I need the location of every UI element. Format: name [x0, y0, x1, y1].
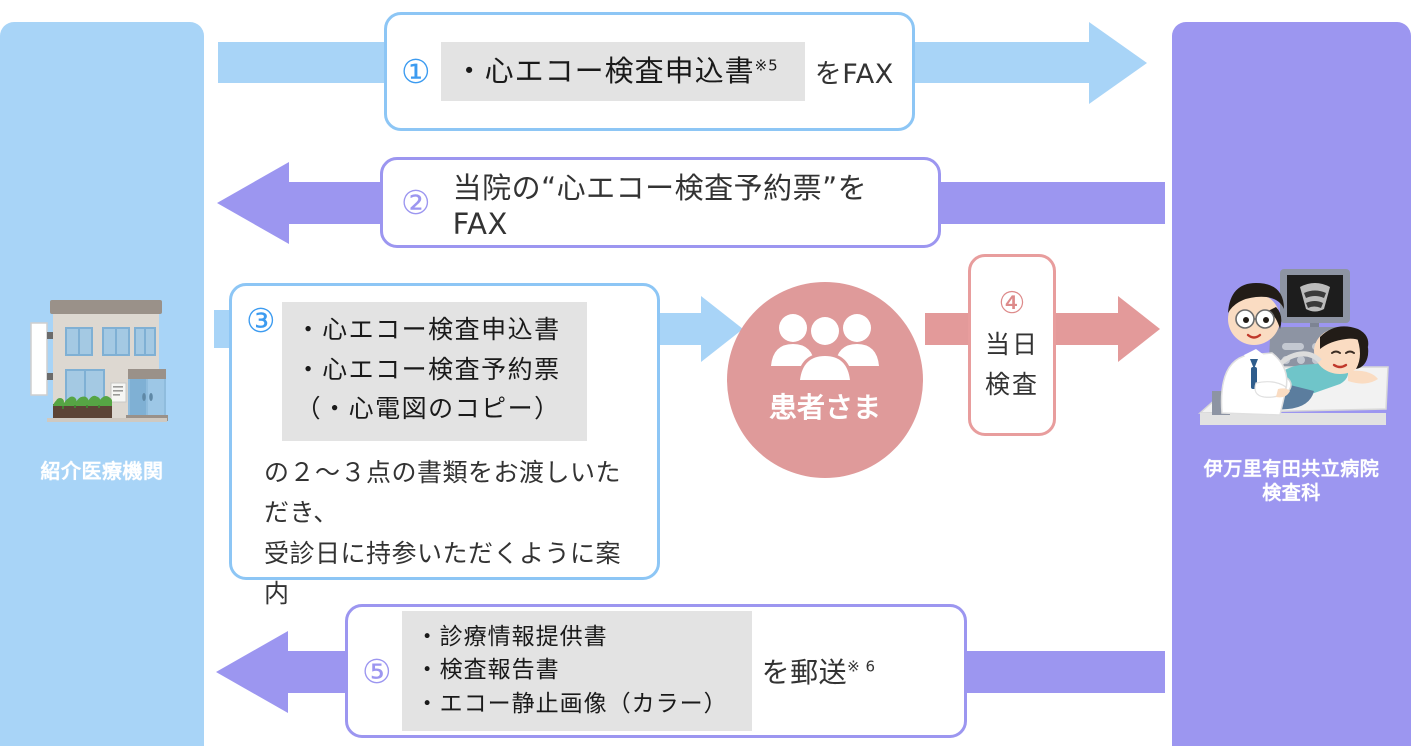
echocardiography-exam-icon: [1188, 263, 1396, 445]
clinic-building-icon: [22, 283, 182, 447]
step-1-number: ①: [401, 55, 431, 88]
step-2-text: 当院の“心エコー検査予約票”をFAX: [453, 165, 918, 241]
arrow-step5-head: [216, 631, 288, 713]
step-5-document-list: ・診療情報提供書 ・検査報告書 ・エコー静止画像（カラー）: [402, 611, 752, 730]
arrow-step4-shaft-left: [925, 313, 973, 345]
step-1-document-line-1: ・心エコー検査申込書: [455, 54, 755, 88]
step-5-document-line-3: ・エコー静止画像（カラー）: [416, 688, 728, 721]
step-2-number: ②: [401, 186, 431, 219]
patient-label: 患者さま: [769, 386, 881, 426]
arrow-step2-shaft-right: [940, 182, 1165, 224]
step-5-action-label: を郵送: [762, 656, 848, 689]
diagram-canvas: 紹介医療機関: [0, 0, 1411, 746]
step-3-note-line-2: 受診日に持参いただくように案内: [264, 534, 643, 615]
referring-clinic-panel: 紹介医療機関: [0, 22, 204, 746]
arrow-step5-shaft-right: [963, 651, 1165, 693]
arrow-step4-head: [1118, 296, 1160, 362]
step-2-box: ② 当院の“心エコー検査予約票”をFAX: [380, 157, 941, 248]
step-4-line-1: 当日: [985, 325, 1039, 361]
referring-clinic-label: 紹介医療機関: [41, 459, 164, 485]
step-4-box: ④ 当日 検査: [968, 254, 1056, 436]
step-3-document-line-1: ・心エコー検査申込書: [296, 310, 561, 350]
arrow-step4-shaft-right: [1052, 313, 1118, 345]
step-1-document-list: ・心エコー検査申込書※5: [441, 42, 805, 101]
step-1-box: ① ・心エコー検査申込書※5 をFAX: [384, 12, 915, 131]
step-3-note-line-1: の２〜３点の書類をお渡しいただき、: [264, 453, 643, 534]
patient-node: 患者さま: [727, 282, 923, 478]
arrow-step2-shaft-left: [289, 182, 385, 224]
step-3-note: の２〜３点の書類をお渡しいただき、 受診日に持参いただくように案内: [246, 453, 643, 615]
step-3-number: ③: [246, 304, 276, 337]
arrow-step1-shaft-right: [905, 42, 1089, 83]
arrow-step1-head: [1089, 22, 1147, 104]
step-5-document-line-2: ・検査報告書: [416, 654, 728, 687]
step-3-document-line-2: ・心エコー検査予約票: [296, 350, 561, 390]
hospital-panel: 伊万里有田共立病院 検査科: [1172, 22, 1411, 746]
step-5-document-line-1: ・診療情報提供書: [416, 621, 728, 654]
step-4-number: ④: [999, 289, 1026, 319]
step-5-footnote: ※ 6: [847, 658, 875, 676]
step-5-box: ⑤ ・診療情報提供書 ・検査報告書 ・エコー静止画像（カラー） を郵送※ 6: [345, 604, 967, 738]
arrow-step3-shaft: [657, 313, 701, 345]
arrow-step2-head: [217, 162, 289, 244]
step-4-line-2: 検査: [985, 365, 1039, 401]
step-3-document-list: ・心エコー検査申込書 ・心エコー検査予約票 （・心電図のコピー）: [282, 302, 587, 441]
step-5-action: を郵送※ 6: [762, 651, 876, 691]
step-5-number: ⑤: [362, 655, 392, 688]
hospital-label-line1: 伊万里有田共立病院: [1204, 457, 1380, 481]
people-group-icon: [769, 308, 881, 382]
step-3-document-line-3: （・心電図のコピー）: [296, 389, 561, 429]
hospital-label: 伊万里有田共立病院 検査科: [1204, 457, 1380, 506]
hospital-label-line2: 検査科: [1204, 481, 1380, 505]
step-1-footnote: ※5: [755, 56, 779, 74]
step-1-action: をFAX: [815, 52, 894, 91]
step-3-box: ③ ・心エコー検査申込書 ・心エコー検査予約票 （・心電図のコピー） の２〜３点…: [229, 283, 660, 580]
